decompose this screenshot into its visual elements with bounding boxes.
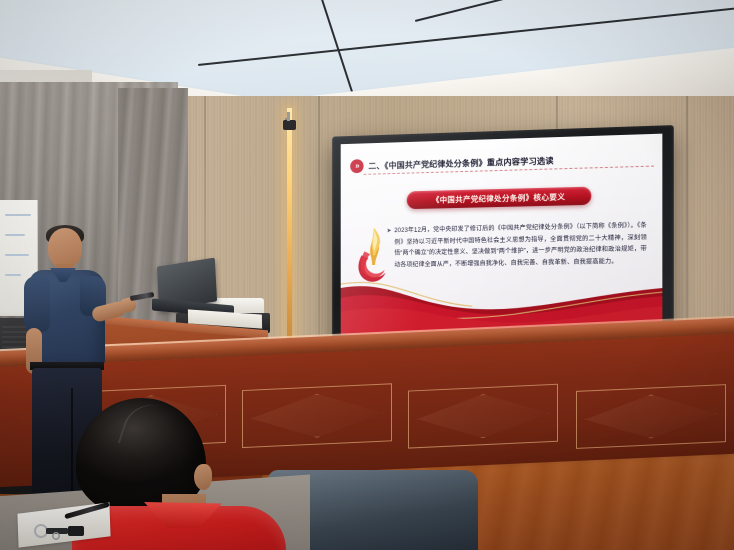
ceiling-camera-icon — [283, 120, 296, 130]
chevron-double-right-icon: » — [350, 159, 363, 173]
bullet-marker: ➤ — [387, 227, 392, 234]
presentation-slide: » 二、《中国共产党纪律处分条例》重点内容学习选读 《中国共产党纪律处分条例》核… — [341, 134, 663, 335]
vertical-light-strip — [287, 108, 292, 344]
slide-header: » 二、《中国共产党纪律处分条例》重点内容学习选读 — [350, 147, 656, 176]
led-display-panel[interactable]: » 二、《中国共产党纪律处分条例》重点内容学习选读 《中国共产党纪律处分条例》核… — [332, 125, 674, 345]
ceiling-cable — [415, 0, 734, 22]
presenter-head — [48, 228, 82, 268]
keychain[interactable] — [32, 522, 98, 540]
attendee-ear — [194, 464, 212, 490]
conference-room-scene: » 二、《中国共产党纪律处分条例》重点内容学习选读 《中国共产党纪律处分条例》核… — [0, 0, 734, 550]
display-surface: » 二、《中国共产党纪律处分条例》重点内容学习选读 《中国共产党纪律处分条例》核… — [341, 134, 663, 335]
section-banner: 《中国共产党纪律处分条例》核心要义 — [407, 187, 592, 210]
